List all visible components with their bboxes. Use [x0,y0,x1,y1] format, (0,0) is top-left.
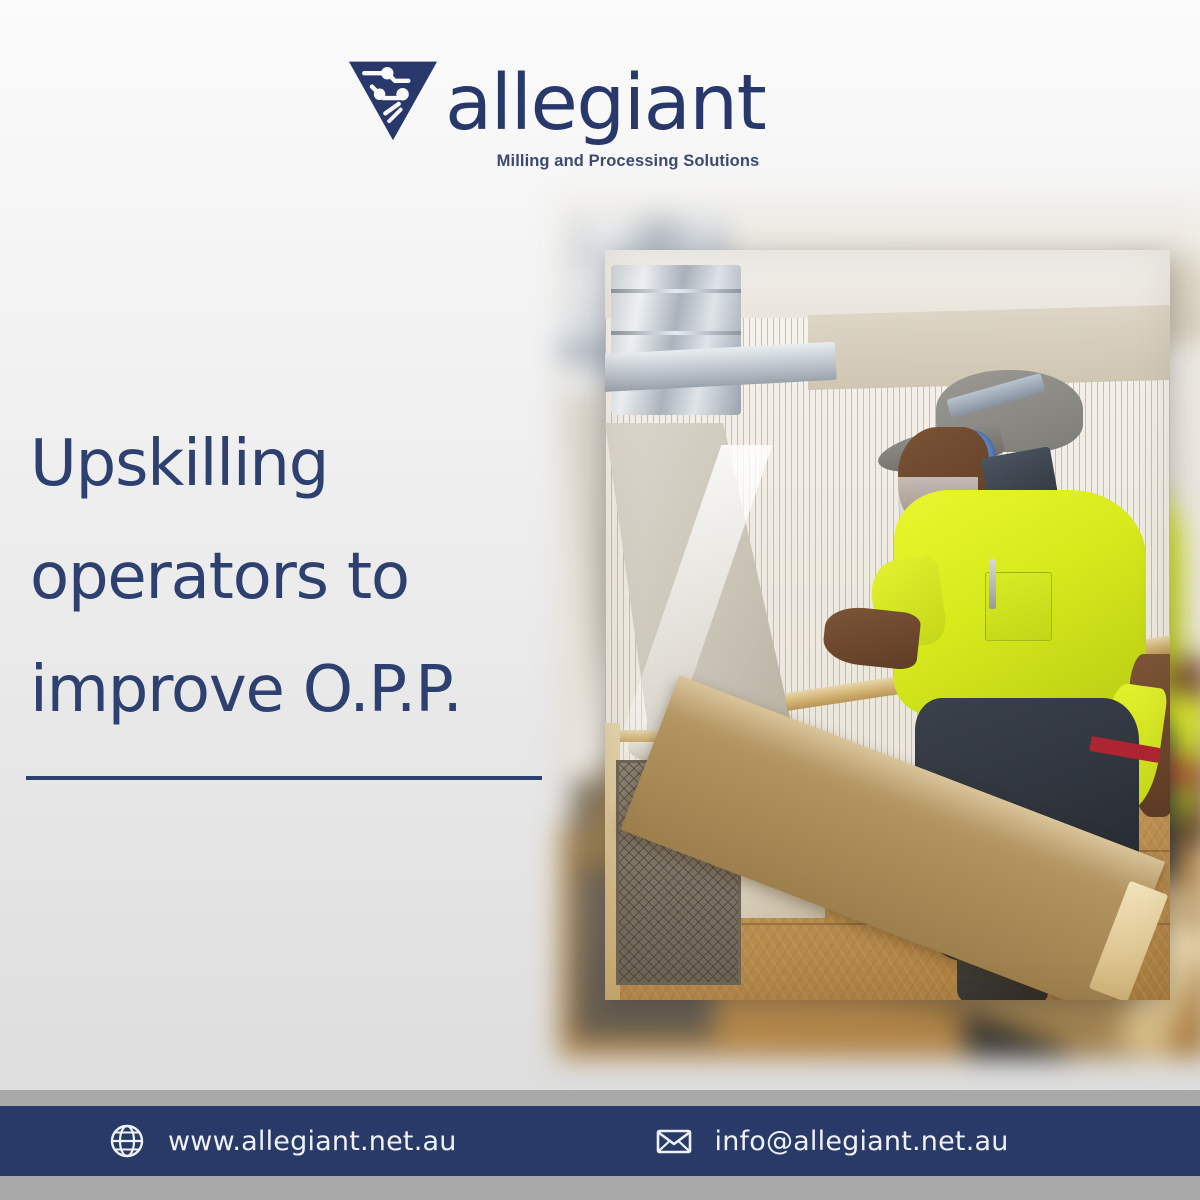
website-contact[interactable]: www.allegiant.net.au [108,1122,457,1160]
social-media-poster: allegiant Milling and Processing Solutio… [0,0,1200,1200]
website-label: www.allegiant.net.au [168,1126,457,1157]
logo-row: allegiant [345,52,805,148]
headline-line-1: Upskilling [30,408,560,521]
allegiant-triangle-circuit-mark [345,54,441,146]
globe-icon [108,1122,146,1160]
brand-wordmark: allegiant [445,65,765,142]
footer-bottom-band [0,1176,1200,1200]
photo-inset-sharp [605,250,1170,1000]
brand-logo-block: allegiant Milling and Processing Solutio… [345,52,805,177]
envelope-icon [655,1122,693,1160]
headline-line-2: operators to [30,521,560,634]
footer-contact-bar: www.allegiant.net.au info@allegiant.net.… [0,1106,1200,1176]
headline: Upskilling operators to improve O.P.P. [30,408,560,747]
email-contact[interactable]: info@allegiant.net.au [655,1122,1009,1160]
email-label: info@allegiant.net.au [715,1126,1009,1157]
headline-underline [26,776,542,780]
footer-top-band [0,1090,1200,1106]
photo-composite [568,205,1200,1045]
headline-line-3: improve O.P.P. [30,634,560,747]
brand-tagline: Milling and Processing Solutions [451,152,805,171]
